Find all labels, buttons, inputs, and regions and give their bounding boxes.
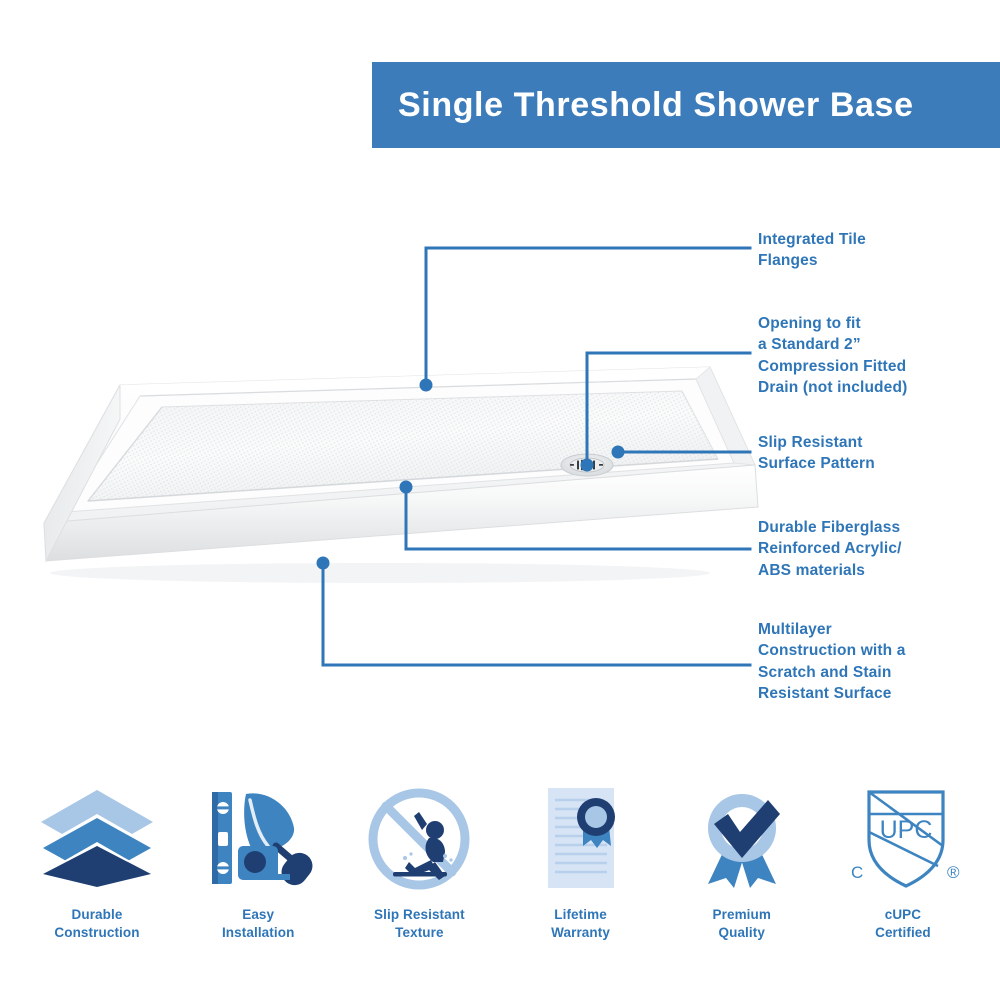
feature-durable-construction: Durable Construction — [22, 778, 172, 942]
callout-label-multilayer-construction: Multilayer Construction with a Scratch a… — [758, 619, 998, 705]
leader-dot-tile-flanges — [420, 379, 433, 392]
leader-dot-fiberglass — [400, 481, 413, 494]
check-rosette-icon — [682, 778, 802, 900]
feature-easy-installation: Easy Installation — [183, 778, 333, 942]
shield-c-prefix: C — [851, 863, 863, 882]
feature-cupc-certified: UPC C ® cUPC Certified — [828, 778, 978, 942]
feature-caption-durable-construction: Durable Construction — [54, 906, 139, 942]
leader-dot-drain-opening — [581, 459, 594, 472]
leader-line-drain-opening — [587, 353, 750, 465]
level-and-trowel-icon — [198, 778, 318, 900]
callout-label-drain-opening: Opening to fit a Standard 2” Compression… — [758, 313, 998, 399]
callout-label-durable-fiberglass: Durable Fiberglass Reinforced Acrylic/ A… — [758, 517, 998, 581]
leader-dot-slip-surface — [612, 446, 625, 459]
feature-caption-lifetime-warranty: Lifetime Warranty — [551, 906, 610, 942]
leader-line-multilayer — [323, 563, 750, 665]
cupc-shield-icon: UPC C ® — [843, 778, 963, 900]
leader-dot-multilayer — [317, 557, 330, 570]
feature-slip-resistant-texture: Slip Resistant Texture — [344, 778, 494, 942]
shield-upc-text: UPC — [880, 816, 933, 844]
callout-label-integrated-tile-flanges: Integrated Tile Flanges — [758, 229, 988, 272]
feature-caption-premium-quality: Premium Quality — [713, 906, 771, 942]
leader-line-fiberglass — [406, 487, 750, 549]
infographic-page: Single Threshold Shower Base — [0, 0, 1000, 1000]
certificate-rosette-icon — [521, 778, 641, 900]
feature-badge-row: Durable Construction — [0, 778, 1000, 968]
feature-caption-easy-installation: Easy Installation — [222, 906, 294, 942]
no-slip-icon — [359, 778, 479, 900]
feature-caption-slip-resistant-texture: Slip Resistant Texture — [374, 906, 465, 942]
shield-registered-mark: ® — [947, 863, 960, 882]
callout-label-slip-resistant-surface: Slip Resistant Surface Pattern — [758, 432, 988, 475]
layers-icon — [37, 778, 157, 900]
feature-caption-cupc-certified: cUPC Certified — [875, 906, 931, 942]
feature-premium-quality: Premium Quality — [667, 778, 817, 942]
feature-lifetime-warranty: Lifetime Warranty — [506, 778, 656, 942]
